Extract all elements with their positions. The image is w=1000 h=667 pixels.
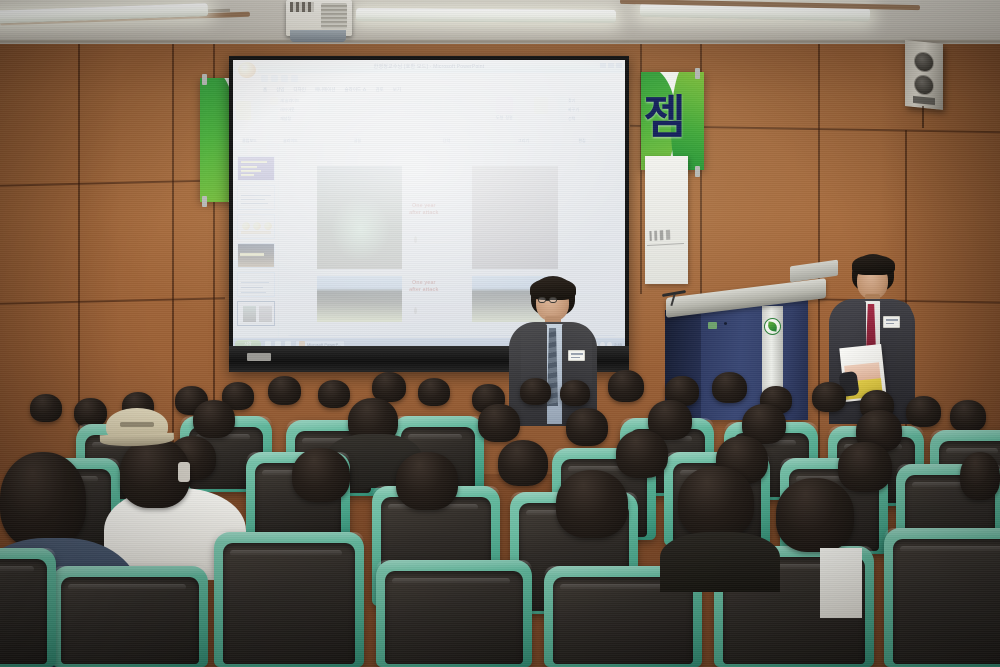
ribbon-group-slides[interactable]: 새 슬라이드 레이아웃 재설정 슬라이드 <box>267 95 315 144</box>
undo-icon[interactable] <box>271 75 278 82</box>
group-label-drawing: 그리기 <box>493 138 554 144</box>
replace-icon[interactable] <box>558 106 566 114</box>
font-family-select[interactable] <box>318 98 352 105</box>
audience-head <box>498 440 548 486</box>
handwriting-underline <box>647 243 684 246</box>
reset-label[interactable]: 재설정 <box>280 116 291 122</box>
new-slide-icon[interactable] <box>270 97 278 105</box>
audience-head <box>950 400 986 432</box>
audience-head <box>292 448 350 502</box>
audience-head <box>960 452 1000 500</box>
group-label-editing: 편집 <box>555 138 609 144</box>
audience-head <box>0 452 86 548</box>
window-title-bar: 한영정교수님 [호환 모드] - Microsoft PowerPoint <box>233 60 625 73</box>
ceiling-seam <box>0 40 1000 43</box>
grow-font-icon[interactable] <box>372 97 380 105</box>
bold-icon[interactable] <box>318 106 326 114</box>
podium-sticker <box>708 322 717 329</box>
tab-home[interactable]: 홈 <box>263 87 267 93</box>
wall-panel-seam <box>172 44 174 474</box>
slide-thumbnail[interactable]: 54 <box>237 243 275 268</box>
align-center-icon[interactable] <box>414 106 422 114</box>
audience-head <box>616 430 668 478</box>
cap-seam <box>120 422 154 427</box>
seat <box>884 528 1000 667</box>
select-icon[interactable] <box>558 115 566 123</box>
speaker-driver-icon <box>914 51 934 73</box>
phone-or-hand <box>178 462 190 482</box>
quick-access-toolbar[interactable] <box>233 73 625 84</box>
presenter-lapel-left <box>521 324 547 426</box>
strikethrough-icon[interactable] <box>358 106 366 114</box>
audience-head <box>812 382 846 412</box>
pane-tabs[interactable] <box>235 148 276 153</box>
find-label[interactable]: 찾기 <box>568 98 575 104</box>
quick-styles-icon[interactable] <box>534 97 548 114</box>
align-left-icon[interactable] <box>404 106 412 114</box>
audience-head <box>712 372 747 403</box>
ribbon-group-clipboard[interactable]: 클립보드 <box>233 95 267 144</box>
text-direction-icon[interactable] <box>454 97 462 105</box>
banner-right-glyph: 젬 <box>644 94 685 140</box>
justify-icon[interactable] <box>434 106 442 114</box>
baseball-cap <box>106 408 168 444</box>
tab-review[interactable]: 검토 <box>376 87 384 93</box>
group-label-slides: 슬라이드 <box>267 138 314 144</box>
ceiling-projector <box>286 0 352 36</box>
group-label-clipboard: 클립보드 <box>233 138 266 144</box>
shadow-icon[interactable] <box>348 106 356 114</box>
audience-paper <box>820 548 862 618</box>
save-icon[interactable] <box>261 75 268 82</box>
window-title: 한영정교수님 [호환 모드] - Microsoft PowerPoint <box>374 63 485 70</box>
office-orb-icon[interactable] <box>236 60 258 80</box>
audience-head <box>556 470 628 538</box>
ribbon[interactable]: 클립보드 새 슬라이드 레이아웃 재설정 슬라이드 글꼴 <box>233 95 625 145</box>
banner-clip <box>202 74 207 85</box>
slide-annotation-1: One year after attack <box>409 203 438 217</box>
slide-thumbnail-pane[interactable]: 51 52 <box>233 145 279 341</box>
layout-icon[interactable] <box>270 106 278 114</box>
audience-head <box>478 404 520 442</box>
redo-icon[interactable] <box>281 75 288 82</box>
paper-board <box>645 156 688 284</box>
glasses-icon <box>538 297 568 305</box>
ceiling-light <box>356 8 616 23</box>
seat <box>214 532 364 667</box>
audience-head <box>566 408 608 446</box>
underline-icon[interactable] <box>338 106 346 114</box>
arrange-label[interactable]: 정렬 <box>505 115 512 121</box>
reset-icon[interactable] <box>270 115 278 123</box>
slide-image-field-before[interactable] <box>317 276 403 322</box>
slide-image-aerial-before[interactable] <box>317 166 403 269</box>
slide-image-aerial-after[interactable] <box>472 166 558 269</box>
wall-speaker <box>905 40 943 110</box>
slide-thumbnail[interactable]: 53 <box>237 214 275 239</box>
audience-head <box>838 442 892 492</box>
speaker-label <box>913 96 935 105</box>
bullets-icon[interactable] <box>404 97 412 105</box>
audience-head <box>560 380 590 406</box>
new-slide-label[interactable]: 새 슬라이드 <box>280 98 300 104</box>
audience-head <box>318 380 350 408</box>
find-icon[interactable] <box>558 97 566 105</box>
audience-head <box>74 398 107 427</box>
assistant-hair-top <box>852 255 895 275</box>
paste-icon[interactable] <box>236 101 251 120</box>
screen-pull-tab <box>247 353 271 361</box>
tab-insert[interactable]: 삽입 <box>276 87 284 93</box>
annotation-line2: after attack <box>409 210 438 217</box>
tab-animations[interactable]: 애니메이션 <box>315 87 336 93</box>
audience-head <box>396 452 458 510</box>
seat <box>52 566 208 667</box>
cut-icon[interactable] <box>253 97 261 105</box>
replace-label[interactable]: 바꾸기 <box>568 107 579 113</box>
seat <box>376 560 532 667</box>
ribbon-tabs[interactable]: 홈 삽입 디자인 애니메이션 슬라이드 쇼 검토 보기 <box>233 84 625 95</box>
lecture-hall-photo: 젬 한영정교수님 [호환 모드] - Microsoft PowerPoint <box>0 0 1000 667</box>
group-label-font: 글꼴 <box>315 138 400 144</box>
ribbon-group-paragraph[interactable]: 단락 <box>401 95 493 144</box>
seat <box>0 548 56 667</box>
audience-head <box>776 478 854 552</box>
slide-arrow-1 <box>414 236 460 243</box>
smartart-icon[interactable] <box>454 106 462 114</box>
tab-slides-icon[interactable] <box>237 148 248 153</box>
customize-qat-icon[interactable] <box>291 75 298 82</box>
ribbon-group-drawing[interactable]: 도형정렬 그리기 <box>493 95 555 144</box>
slide-thumbnail[interactable]: 52 <box>237 185 275 210</box>
increase-indent-icon[interactable] <box>434 97 442 105</box>
copy-icon[interactable] <box>253 106 261 114</box>
banner-clip <box>695 166 700 177</box>
ribbon-group-editing[interactable]: 찾기 바꾸기 선택 편집 <box>555 95 609 144</box>
italic-icon[interactable] <box>328 106 336 114</box>
audience-head <box>520 378 551 405</box>
align-right-icon[interactable] <box>424 106 432 114</box>
green-leaf-emblem-icon <box>764 318 781 335</box>
banner-clip <box>695 68 700 79</box>
annotation-line1: One year <box>409 280 438 287</box>
arrange-icon[interactable] <box>515 97 532 114</box>
decrease-indent-icon[interactable] <box>424 97 432 105</box>
layout-label[interactable]: 레이아웃 <box>280 107 295 113</box>
tab-view[interactable]: 보기 <box>393 87 401 93</box>
numbering-icon[interactable] <box>414 97 422 105</box>
font-size-select[interactable] <box>354 98 370 105</box>
ribbon-group-font[interactable]: 글꼴 <box>315 95 401 144</box>
projector-vent-icon <box>321 3 347 29</box>
format-painter-icon[interactable] <box>253 115 261 123</box>
font-color-icon[interactable] <box>388 106 396 114</box>
select-label[interactable]: 선택 <box>568 116 575 122</box>
speaker-cable <box>922 106 924 128</box>
slide-arrow-2 <box>414 307 460 314</box>
podium-fastener <box>724 322 727 325</box>
slide-annotation-2: One year after attack <box>409 280 438 294</box>
line-spacing-icon[interactable] <box>444 97 452 105</box>
projector-mount <box>290 30 346 42</box>
audience-head <box>906 396 941 427</box>
annotation-line1: One year <box>409 203 438 210</box>
banner-clip <box>202 196 207 207</box>
shrink-font-icon[interactable] <box>382 97 390 105</box>
slide-thumbnail[interactable]: 55 <box>237 272 275 297</box>
audience-shoulders <box>660 532 780 592</box>
change-case-icon[interactable] <box>378 106 386 114</box>
projector-controls <box>290 2 314 12</box>
window-buttons[interactable] <box>600 63 622 68</box>
damage-highlight <box>332 197 389 261</box>
audience-head <box>608 370 644 402</box>
presenter-name-badge <box>568 350 585 361</box>
slide-thumbnail[interactable]: 51 <box>237 156 275 181</box>
assistant-name-badge <box>883 316 900 328</box>
audience-head <box>678 466 754 538</box>
annotation-line2: after attack <box>409 287 438 294</box>
shapes-label[interactable]: 도형 <box>496 115 503 121</box>
minimize-icon[interactable] <box>600 63 606 68</box>
close-icon[interactable] <box>616 63 622 68</box>
audience-head <box>418 378 450 406</box>
columns-icon[interactable] <box>444 106 452 114</box>
shapes-icon[interactable] <box>496 97 513 114</box>
maximize-icon[interactable] <box>608 63 614 68</box>
audience-head <box>30 394 62 422</box>
audience-head <box>268 376 301 405</box>
tab-outline-icon[interactable] <box>251 148 262 153</box>
audience-head <box>193 400 235 438</box>
handwriting <box>648 229 683 241</box>
tab-design[interactable]: 디자인 <box>293 87 305 93</box>
group-label-paragraph: 단락 <box>401 138 492 144</box>
speaker-driver-icon <box>914 74 934 96</box>
slide-thumbnail-selected[interactable]: 56 <box>237 301 275 326</box>
char-spacing-icon[interactable] <box>368 106 376 114</box>
tab-slideshow[interactable]: 슬라이드 쇼 <box>345 87 367 93</box>
leaf-icon <box>767 321 777 331</box>
